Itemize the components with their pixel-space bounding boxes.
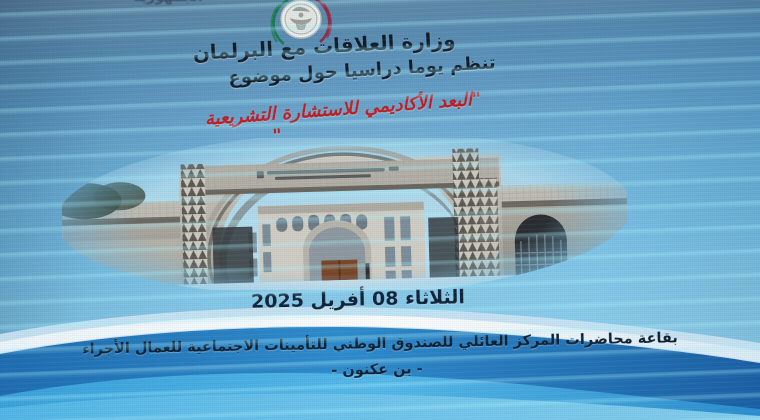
- clipped-top-text-fragment: الجمهورية: [108, 0, 228, 7]
- ministry-building-photo: [62, 138, 627, 290]
- projected-slide-photo: الجمهورية وزارة العلاقات مع البرلمان تنظ…: [0, 0, 760, 420]
